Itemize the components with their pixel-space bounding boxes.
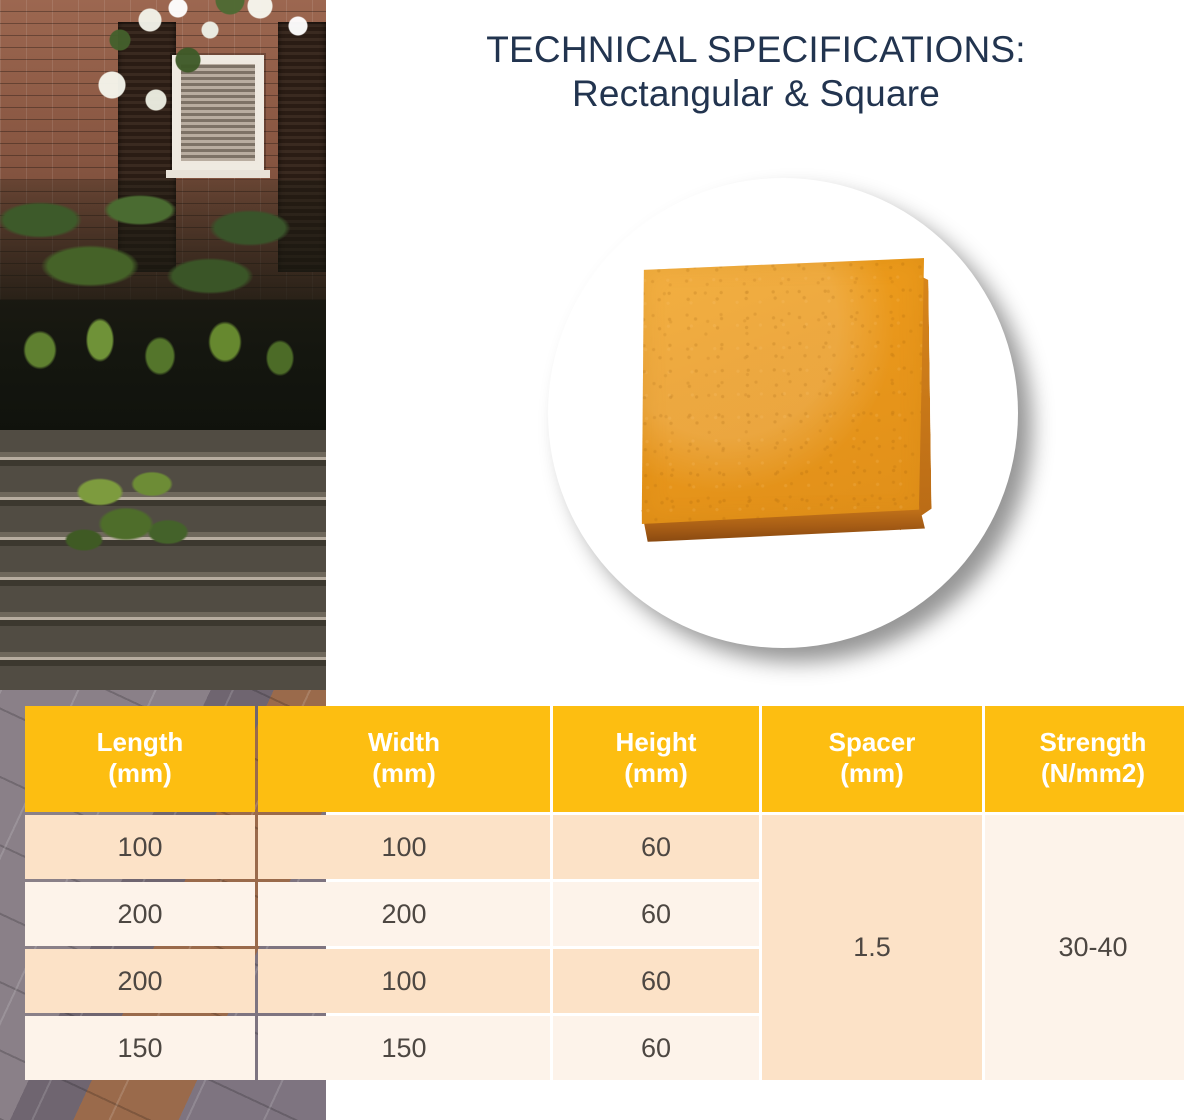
specifications-table: Length (mm) Width (mm) Height (mm) Space…: [22, 703, 1184, 1083]
window-sill: [166, 170, 270, 178]
wall-shrub: [60, 470, 210, 590]
climbing-vine-blossoms: [60, 0, 326, 130]
header-name-width: Width: [260, 727, 548, 758]
title-line-2: Rectangular & Square: [336, 72, 1176, 116]
cell-spacer-merged: 1.5: [762, 815, 982, 1080]
cell-length: 200: [25, 882, 255, 946]
cell-length: 100: [25, 815, 255, 879]
cell-height: 60: [553, 815, 759, 879]
header-unit-length: (mm): [27, 758, 253, 789]
slab-texture: [638, 258, 928, 524]
paving-slab-graphic: [638, 258, 932, 542]
column-header-width: Width (mm): [258, 706, 550, 812]
header-unit-strength: (N/mm2): [987, 758, 1184, 789]
page-title: TECHNICAL SPECIFICATIONS: Rectangular & …: [336, 28, 1176, 115]
product-image: [548, 178, 1028, 658]
cell-length: 150: [25, 1016, 255, 1080]
header-name-length: Length: [27, 727, 253, 758]
cell-height: 60: [553, 882, 759, 946]
header-name-height: Height: [555, 727, 757, 758]
table-header-row: Length (mm) Width (mm) Height (mm) Space…: [25, 706, 1184, 812]
cell-width: 200: [258, 882, 550, 946]
cell-length: 200: [25, 949, 255, 1013]
header-unit-height: (mm): [555, 758, 757, 789]
title-line-1: TECHNICAL SPECIFICATIONS:: [336, 28, 1176, 72]
slab-top-face: [638, 258, 928, 524]
header-name-spacer: Spacer: [764, 727, 980, 758]
column-header-length: Length (mm): [25, 706, 255, 812]
cell-height: 60: [553, 1016, 759, 1080]
cell-width: 150: [258, 1016, 550, 1080]
cell-height: 60: [553, 949, 759, 1013]
grass-tufts: [10, 300, 310, 420]
column-header-strength: Strength (N/mm2): [985, 706, 1184, 812]
table-row: 100 100 60 1.5 30-40: [25, 815, 1184, 879]
header-name-strength: Strength: [987, 727, 1184, 758]
cell-width: 100: [258, 815, 550, 879]
column-header-spacer: Spacer (mm): [762, 706, 982, 812]
header-unit-width: (mm): [260, 758, 548, 789]
cell-width: 100: [258, 949, 550, 1013]
cell-strength-merged: 30-40: [985, 815, 1184, 1080]
header-unit-spacer: (mm): [764, 758, 980, 789]
column-header-height: Height (mm): [553, 706, 759, 812]
